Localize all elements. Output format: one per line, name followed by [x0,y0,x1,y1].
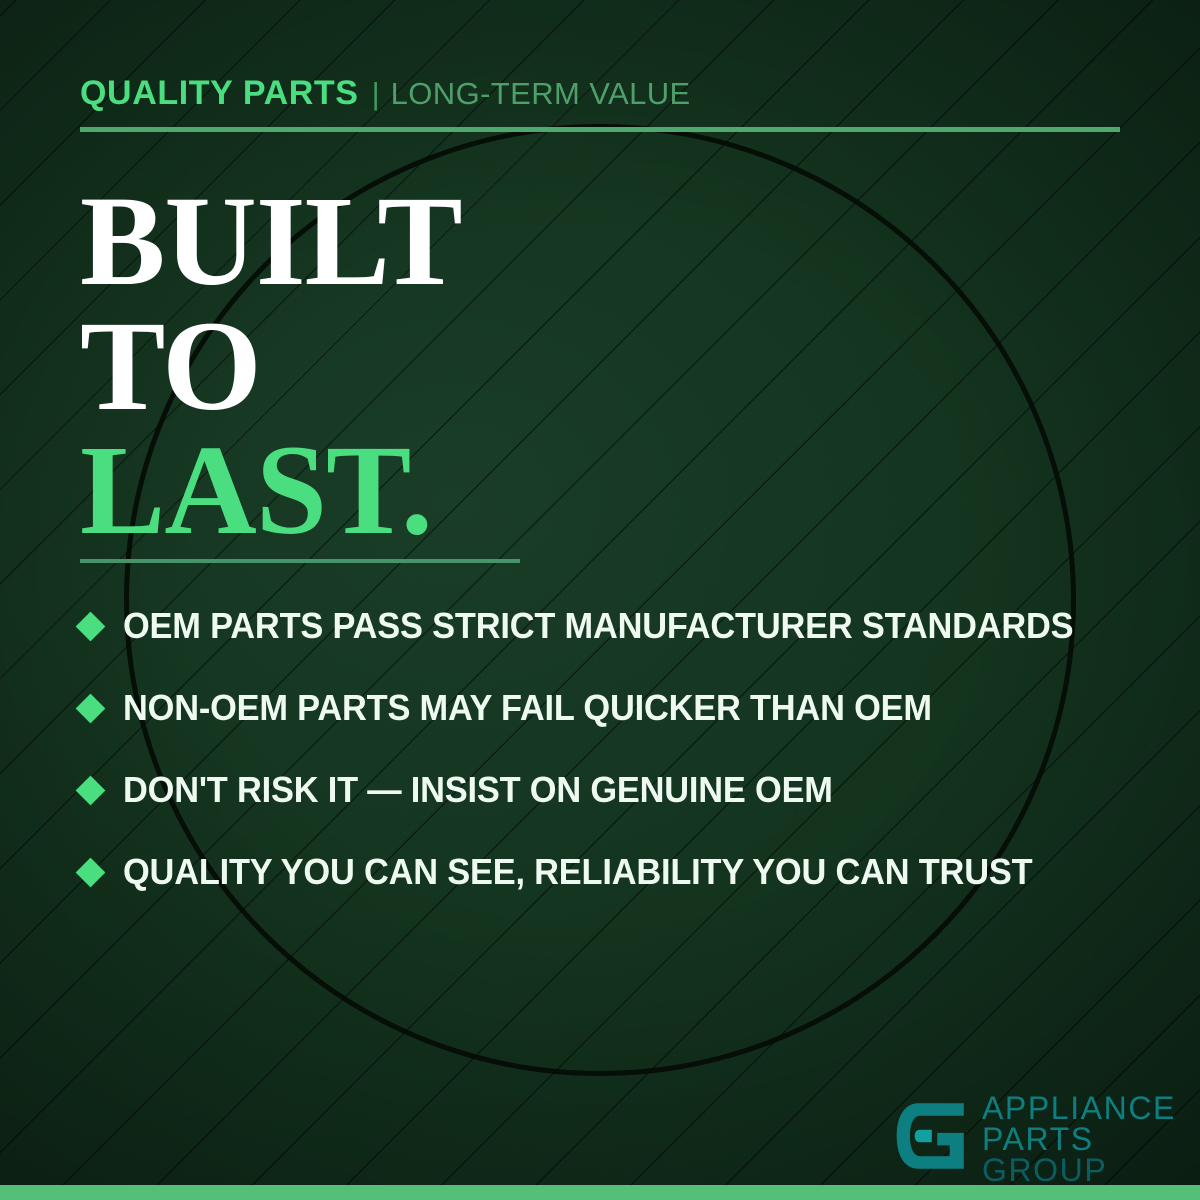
header-divider-rule [80,127,1120,132]
list-item: OEM PARTS PASS STRICT MANUFACTURER STAND… [80,585,1140,667]
page-title: BUILT TO LAST. [80,179,462,551]
list-item-label: DON'T RISK IT — INSIST ON GENUINE OEM [123,769,833,811]
headline-line-1: BUILT [80,179,462,303]
kicker: QUALITY PARTS | LONG-TERM VALUE [80,74,691,113]
bottom-accent-bar [0,1185,1200,1200]
list-item-label: OEM PARTS PASS STRICT MANUFACTURER STAND… [123,605,1073,647]
diamond-icon [76,693,106,723]
brand-word-3: GROUP [982,1155,1176,1186]
kicker-sub-label: LONG-TERM VALUE [391,76,691,112]
diamond-icon [76,611,106,641]
g-monogram-icon [892,1097,970,1175]
headline-line-3: LAST. [80,428,462,552]
list-item: NON-OEM PARTS MAY FAIL QUICKER THAN OEM [80,667,1140,749]
diamond-icon [76,775,106,805]
list-item: QUALITY YOU CAN SEE, RELIABILITY YOU CAN… [80,831,1140,913]
kicker-main-label: QUALITY PARTS [80,74,359,113]
headline-divider-rule [80,559,520,563]
brand-logo-wordmark: APPLIANCE PARTS GROUP [982,1091,1176,1186]
poster-canvas: QUALITY PARTS | LONG-TERM VALUE BUILT TO… [0,0,1200,1200]
list-item: DON'T RISK IT — INSIST ON GENUINE OEM [80,749,1140,831]
list-item-label: QUALITY YOU CAN SEE, RELIABILITY YOU CAN… [123,851,1032,893]
poster-content: QUALITY PARTS | LONG-TERM VALUE BUILT TO… [0,0,1200,1200]
brand-word-1: APPLIANCE [982,1093,1176,1124]
brand-logo: APPLIANCE PARTS GROUP [892,1091,1176,1186]
diamond-icon [76,857,106,887]
headline-line-2: TO [80,304,462,428]
benefits-list: OEM PARTS PASS STRICT MANUFACTURER STAND… [80,585,1140,913]
list-item-label: NON-OEM PARTS MAY FAIL QUICKER THAN OEM [123,687,932,729]
brand-word-2: PARTS [982,1124,1176,1155]
kicker-separator: | [372,76,380,112]
